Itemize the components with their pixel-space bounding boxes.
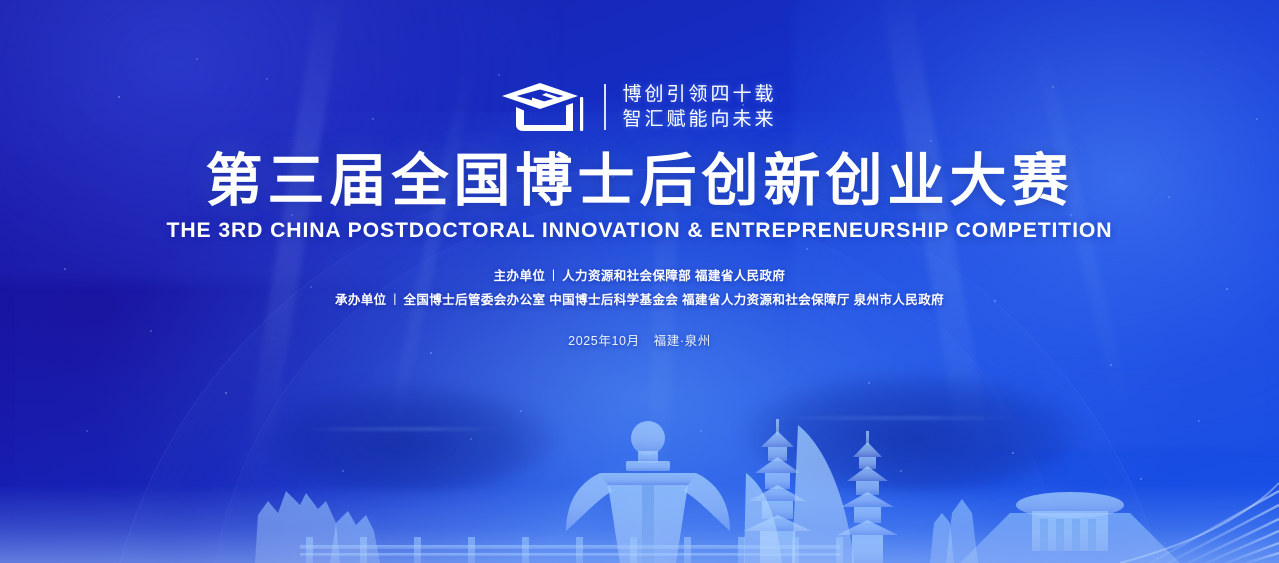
organizer-separator: 丨 <box>545 269 562 283</box>
star <box>1110 364 1112 366</box>
event-date: 2025年10月 <box>568 334 640 348</box>
event-location: 福建·泉州 <box>654 334 711 348</box>
star <box>900 470 902 472</box>
logo-divider <box>604 84 606 130</box>
star <box>430 352 432 354</box>
organizer-value: 人力资源和社会保障部 福建省人民政府 <box>562 269 785 283</box>
organizer-block: 主办单位丨人力资源和社会保障部 福建省人民政府 承办单位丨全国博士后管委会办公室… <box>0 264 1279 313</box>
organizer-row: 承办单位丨全国博士后管委会办公室 中国博士后科学基金会 福建省人力资源和社会保障… <box>0 288 1279 312</box>
star <box>86 430 88 432</box>
event-poster: 博创引领四十载 智汇赋能向未来 第三届全国博士后创新创业大赛 THE 3RD C… <box>0 0 1279 563</box>
logo-lockup: 博创引领四十载 智汇赋能向未来 <box>0 78 1279 136</box>
star <box>470 438 472 440</box>
star <box>1012 452 1014 454</box>
organizer-label: 承办单位 <box>335 293 387 307</box>
star <box>342 470 344 472</box>
star <box>1140 478 1142 480</box>
poster-content: 博创引领四十载 智汇赋能向未来 第三届全国博士后创新创业大赛 THE 3RD C… <box>0 0 1279 349</box>
slogan-line-1: 博创引领四十载 <box>622 82 776 107</box>
slogan-line-2: 智汇赋能向未来 <box>622 107 776 132</box>
organizer-separator: 丨 <box>387 293 404 307</box>
organizer-value: 全国博士后管委会办公室 中国博士后科学基金会 福建省人力资源和社会保障厅 泉州市… <box>403 293 944 307</box>
page-subtitle: THE 3RD CHINA POSTDOCTORAL INNOVATION & … <box>10 218 1270 243</box>
logo-slogan: 博创引领四十载 智汇赋能向未来 <box>622 82 776 132</box>
page-title: 第三届全国博士后创新创业大赛 <box>0 152 1279 212</box>
star <box>700 430 702 432</box>
event-date-location: 2025年10月福建·泉州 <box>0 330 1279 349</box>
graduation-cap-logo-icon <box>502 81 588 133</box>
organizer-label: 主办单位 <box>494 269 546 283</box>
star <box>868 382 870 384</box>
star <box>1198 420 1200 422</box>
star <box>225 392 227 394</box>
star <box>520 410 522 412</box>
organizer-row: 主办单位丨人力资源和社会保障部 福建省人民政府 <box>0 264 1279 288</box>
